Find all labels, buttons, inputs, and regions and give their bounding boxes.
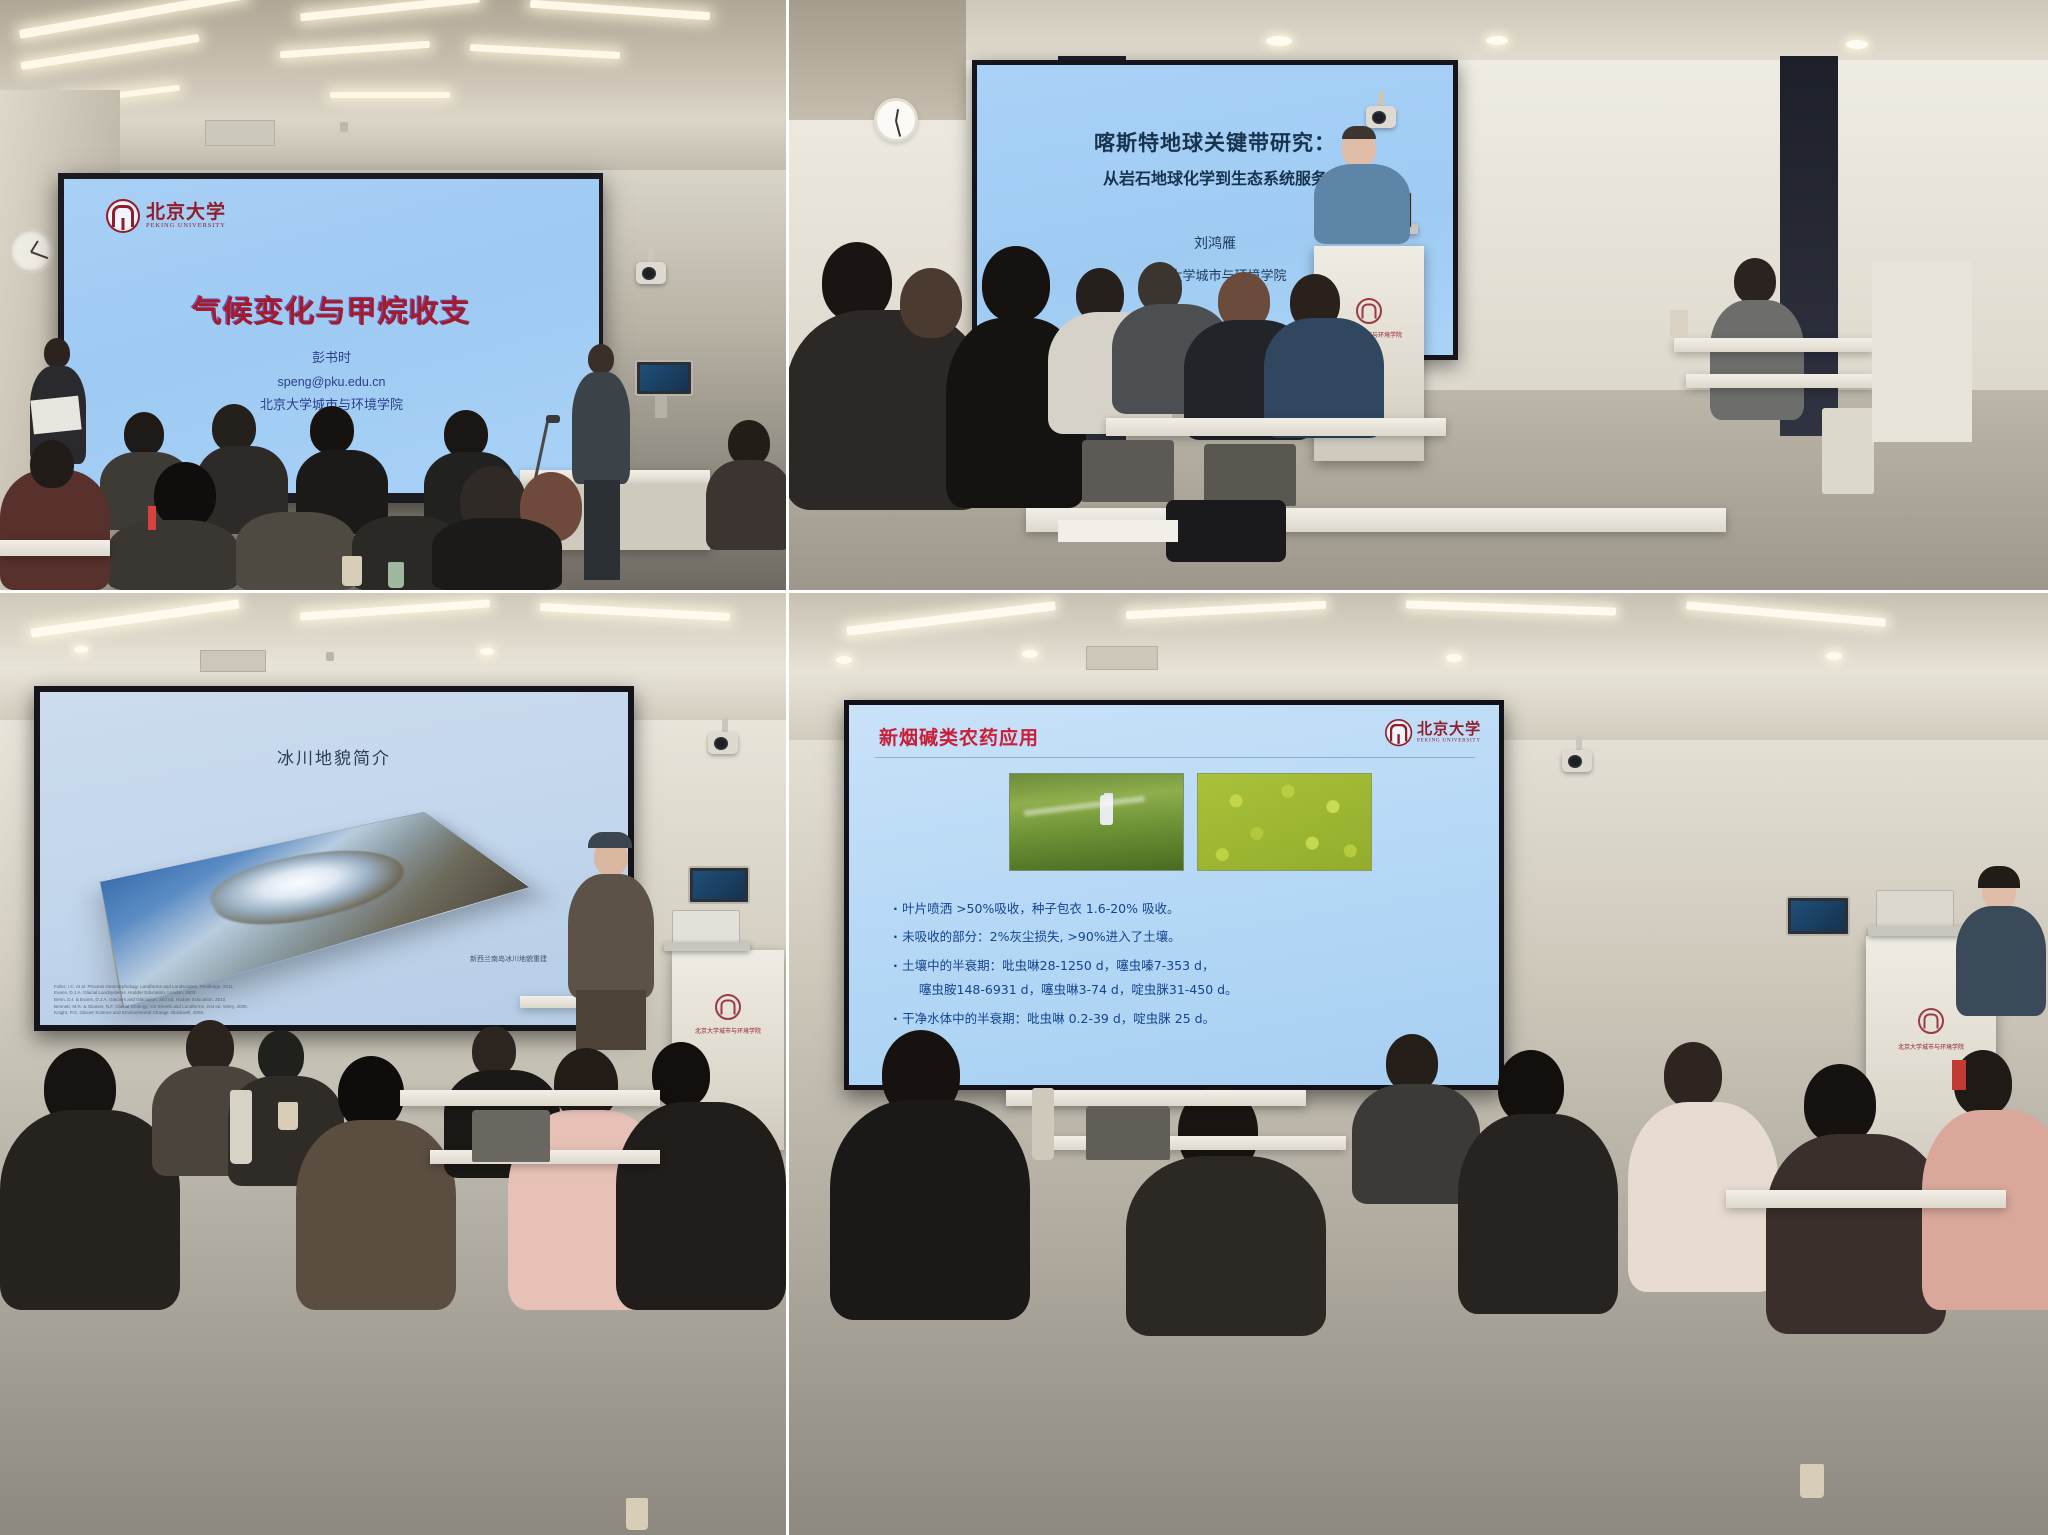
panel-karst-critical-zone: 喀斯特地球关键带研究： 从岩石地球化学到生态系统服务 刘鸿雁 北京大学城市与环境… (786, 0, 2048, 590)
figure-caption: 新西兰南岛冰川地貌重建 (470, 954, 547, 964)
speaker-hair (1978, 866, 2020, 888)
audience-body (830, 1100, 1030, 1320)
slide-title: 气候变化与甲烷收支 (64, 287, 599, 331)
camera-arm (1576, 736, 1582, 750)
audience-body (1766, 1134, 1946, 1334)
slide-title: 冰川地貌简介 (40, 744, 628, 769)
lanyard (148, 506, 156, 530)
chair (472, 1110, 550, 1162)
bullet-text: 土壤中的半衰期：吡虫啉28-1250 d，噻虫嗪7-353 d， (902, 958, 1214, 973)
laptop-base (664, 942, 750, 951)
pku-seal-icon (1385, 719, 1412, 746)
podium-brand: 北京大学城市与环境学院 (695, 1026, 761, 1035)
reference-item: Knight, P.G. Glacier Science and Environ… (54, 1010, 248, 1017)
microphone-icon (546, 415, 560, 423)
table (1686, 374, 1876, 388)
speaker-body (572, 372, 630, 484)
projection-screen: 新烟碱类农药应用 北京大学 PEKING UNIVERSITY 叶片喷洒 >50… (844, 700, 1504, 1090)
speaker-cap (588, 832, 632, 848)
attendee-head (44, 338, 70, 368)
speaker-head (588, 344, 614, 374)
title-underline (875, 757, 1475, 758)
speaker-hair (1342, 126, 1376, 139)
ptz-camera-icon (1562, 750, 1592, 772)
equipment-cart (1822, 408, 1874, 494)
pku-seal-icon (715, 994, 741, 1020)
chair (1204, 444, 1296, 506)
ceiling-light (480, 648, 494, 655)
audience-head (310, 406, 354, 454)
pku-logo: 北京大学 PEKING UNIVERSITY (1385, 719, 1481, 746)
panel-divider-horizontal (0, 590, 2048, 593)
paper-sheet (30, 396, 81, 435)
audience-body (0, 470, 110, 590)
audience-head (444, 410, 488, 458)
audience-head (1804, 1064, 1876, 1144)
audience-body (296, 1120, 456, 1310)
ceiling-vent (205, 120, 275, 146)
camera-arm (648, 248, 654, 262)
ceiling-light (330, 92, 450, 98)
pku-seal-icon (1356, 298, 1382, 324)
speaker-lower (576, 990, 646, 1050)
audience-head (30, 440, 74, 488)
speaker-body (1314, 164, 1410, 244)
slide-title: 新烟碱类农药应用 (879, 723, 1039, 750)
wall-clock-icon (8, 228, 54, 274)
photo-collage: 北京大学 PEKING UNIVERSITY 气候变化与甲烷收支 彭书时 spe… (0, 0, 2048, 1535)
audience-head (900, 268, 962, 338)
ptz-camera-icon (636, 262, 666, 284)
paper-cup (626, 1498, 648, 1530)
lanyard (1952, 1060, 1966, 1090)
audience-head (124, 412, 164, 456)
speaker-body (1956, 906, 2046, 1016)
bullet-item: 土壤中的半衰期：吡虫啉28-1250 d，噻虫嗪7-353 d， 噻虫胺148-… (893, 954, 1481, 1003)
reference-list: Fuller, I.C. et al. Process Geomorpholog… (54, 984, 248, 1017)
table (400, 1090, 660, 1106)
audience-head (1498, 1050, 1564, 1124)
panel-climate-methane: 北京大学 PEKING UNIVERSITY 气候变化与甲烷收支 彭书时 spe… (0, 0, 786, 590)
audience-body (1710, 300, 1804, 420)
paper-cup (1670, 310, 1688, 338)
speaker-legs (584, 480, 620, 580)
audience-head (1734, 258, 1776, 304)
audience-head (472, 1026, 516, 1076)
audience-body (616, 1102, 786, 1310)
pku-logo: 北京大学 PEKING UNIVERSITY (106, 199, 226, 233)
side-cabinet (1872, 262, 1972, 442)
ceiling-light (1486, 36, 1508, 45)
slide-title-line1: 喀斯特地球关键带研究： (977, 127, 1453, 157)
camera-arm (722, 718, 728, 732)
ceiling-light (1022, 650, 1038, 658)
audience-body (432, 518, 562, 590)
chair (1082, 440, 1174, 502)
table (0, 540, 110, 556)
pku-brand-en: PEKING UNIVERSITY (1417, 738, 1481, 743)
audience-head (1664, 1042, 1722, 1108)
audience-head (154, 462, 216, 528)
pku-brand-en: PEKING UNIVERSITY (146, 223, 226, 230)
slide-pesticides: 新烟碱类农药应用 北京大学 PEKING UNIVERSITY 叶片喷洒 >50… (849, 705, 1499, 1085)
bullet-item: 干净水体中的半衰期：吡虫啉 0.2-39 d，啶虫脒 25 d。 (893, 1007, 1481, 1031)
monitor-stand (655, 396, 667, 418)
table (1106, 418, 1446, 436)
ptz-camera-icon (1366, 106, 1396, 128)
confidence-monitor (688, 866, 750, 904)
paper-cup (278, 1102, 298, 1130)
laptop-base (1868, 926, 1962, 936)
bullet-item: 未吸收的部分：2%灰尘损失, >90%进入了土壤。 (893, 925, 1481, 949)
bullet-item: 叶片喷洒 >50%吸收，种子包衣 1.6-20% 吸收。 (893, 897, 1481, 921)
sprinkler-icon (340, 122, 348, 132)
pku-seal-icon (106, 199, 140, 233)
table (1726, 1190, 2006, 1208)
paper-cup (388, 562, 404, 588)
paper-cup (1800, 1464, 1824, 1498)
glacier-3d-figure (99, 812, 531, 1009)
ceiling-left (786, 0, 966, 120)
presenter-email: speng@pku.edu.cn (64, 371, 599, 394)
paper-sheet (1058, 520, 1178, 542)
podium-brand: 北京大学城市与环境学院 (1898, 1042, 1964, 1051)
ceiling-light (74, 646, 88, 653)
audience-head (982, 246, 1050, 322)
sprinkler-icon (326, 652, 334, 661)
camera-arm (1378, 92, 1384, 106)
audience-body (706, 460, 786, 550)
panel-divider-vertical (786, 0, 789, 1535)
thermos-bottle (230, 1090, 252, 1164)
audience-body (108, 520, 238, 590)
slide-glacier: 冰川地貌简介 新西兰南岛冰川地貌重建 Fuller, I.C. et al. P… (40, 692, 628, 1025)
audience-head (652, 1042, 710, 1108)
ceiling-light (1826, 652, 1842, 660)
audience-body (1922, 1110, 2048, 1310)
ceiling-vent (200, 650, 266, 672)
reference-item: Fuller, I.C. et al. Process Geomorpholog… (54, 984, 248, 991)
ceiling-light (1446, 654, 1462, 662)
presenter-name: 彭书时 (64, 347, 599, 371)
projection-screen: 冰川地貌简介 新西兰南岛冰川地貌重建 Fuller, I.C. et al. P… (34, 686, 634, 1031)
audience-head (212, 404, 256, 452)
ceiling-light (1846, 40, 1868, 49)
audience-head (338, 1056, 404, 1130)
pku-brand-cn: 北京大学 (1417, 722, 1481, 738)
confidence-monitor (1786, 896, 1850, 936)
bullet-list: 叶片喷洒 >50%吸收，种子包衣 1.6-20% 吸收。 未吸收的部分：2%灰尘… (893, 897, 1481, 1035)
pku-seal-icon (1918, 1008, 1944, 1034)
ceiling-light (836, 656, 852, 664)
bullet-continuation: 噻虫胺148-6931 d，噻虫啉3-74 d，啶虫脒31-450 d。 (905, 978, 1481, 1002)
ceiling-light (1266, 36, 1292, 46)
audience-body (236, 512, 356, 590)
laptop-icon (1876, 890, 1954, 928)
table (1674, 338, 1874, 352)
backpack (1166, 500, 1286, 562)
confidence-monitor (635, 360, 693, 396)
reference-item: Bennett, M.R. & Glasser, N.F. Glacial Ge… (54, 1004, 248, 1011)
speaker-body (568, 874, 654, 998)
reference-item: Evans, D.J.A. Glacial Landsystems. Hodde… (54, 990, 248, 997)
thermos-bottle (1032, 1088, 1054, 1160)
panel-glacier-landforms: 冰川地貌简介 新西兰南岛冰川地貌重建 Fuller, I.C. et al. P… (0, 590, 786, 1535)
ptz-camera-icon (708, 732, 738, 754)
audience-body (1126, 1156, 1326, 1336)
audience-body (1458, 1114, 1618, 1314)
field-spraying-photo (1009, 773, 1184, 871)
paper-cup (342, 556, 362, 586)
ceiling-vent (1086, 646, 1158, 670)
laptop-icon (672, 910, 740, 944)
panel-neonicotinoid-pesticides: 新烟碱类农药应用 北京大学 PEKING UNIVERSITY 叶片喷洒 >50… (786, 590, 2048, 1535)
chair (1086, 1106, 1170, 1160)
pku-brand-cn: 北京大学 (146, 203, 226, 223)
audience-head (258, 1030, 304, 1082)
reference-item: Benn, D.I. & Evans, D.J.A. Glaciers and … (54, 997, 248, 1004)
wall-clock-icon (874, 98, 918, 142)
treated-seeds-photo (1197, 773, 1372, 871)
